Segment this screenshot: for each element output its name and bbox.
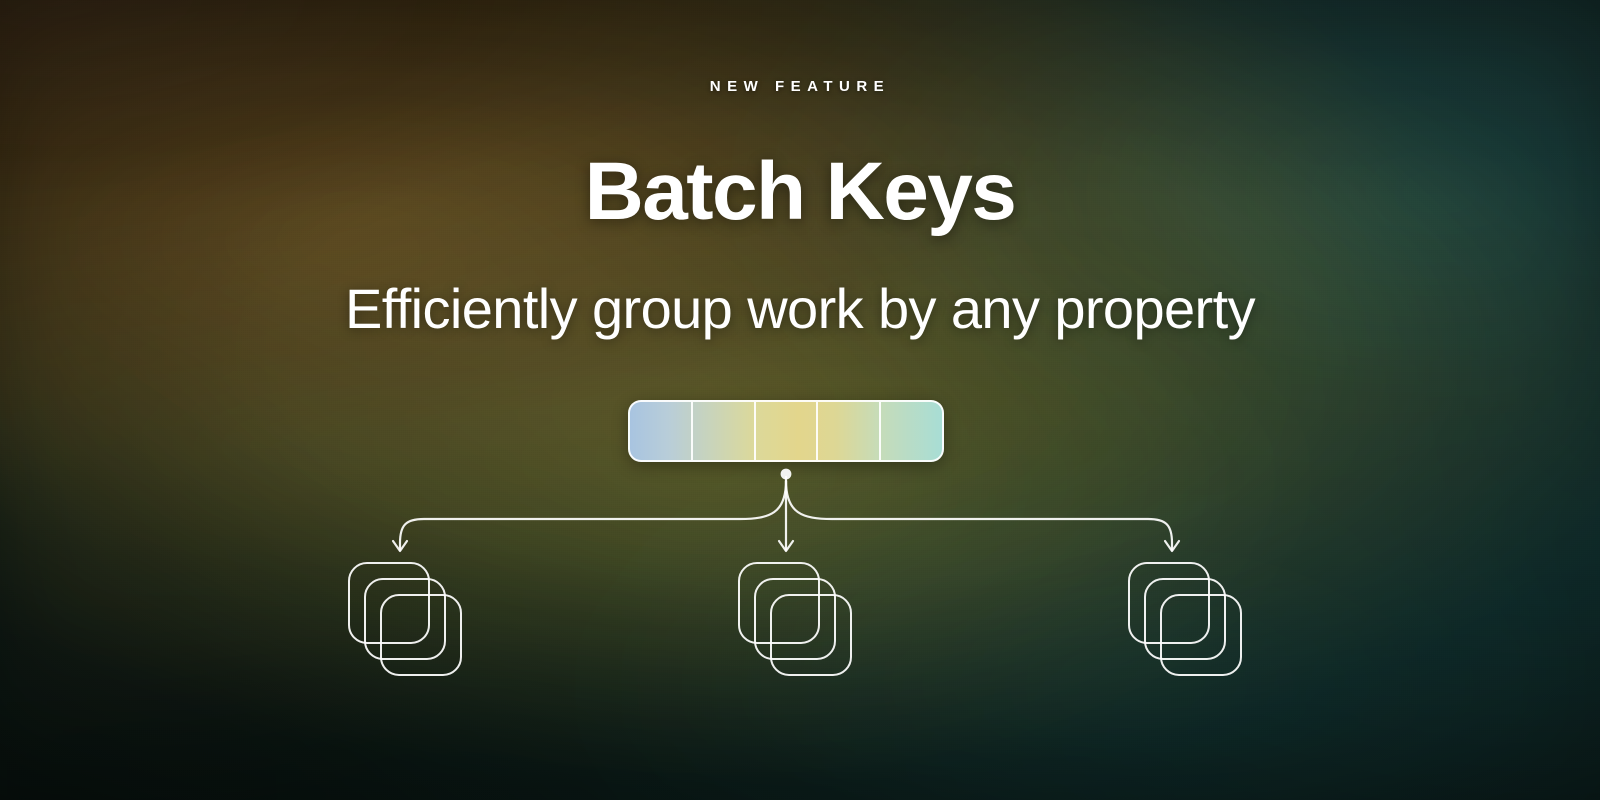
card-stack-left: [348, 562, 463, 677]
eyebrow-label: NEW FEATURE: [0, 78, 1600, 95]
connector-left-line: [400, 481, 786, 550]
card-layer-front: [770, 594, 852, 676]
key-bar-segment-1: [630, 402, 693, 460]
key-bar-segment-3: [756, 402, 819, 460]
gradient-key-bar: [628, 400, 944, 462]
card-layer-front: [1160, 594, 1242, 676]
key-bar-segment-2: [693, 402, 756, 460]
hero-banner: NEW FEATURE Batch Keys Efficiently group…: [0, 0, 1600, 800]
card-layer-front: [380, 594, 462, 676]
page-title: Batch Keys: [0, 144, 1600, 240]
subtitle: Efficiently group work by any property: [0, 275, 1600, 343]
key-bar-segment-5: [881, 402, 942, 460]
branch-connector-diagram: [0, 455, 1600, 570]
source-node-dot: [781, 469, 792, 480]
card-stack-right: [1128, 562, 1243, 677]
connector-right-line: [786, 481, 1172, 550]
card-stack-center: [738, 562, 853, 677]
key-bar-segment-4: [818, 402, 881, 460]
